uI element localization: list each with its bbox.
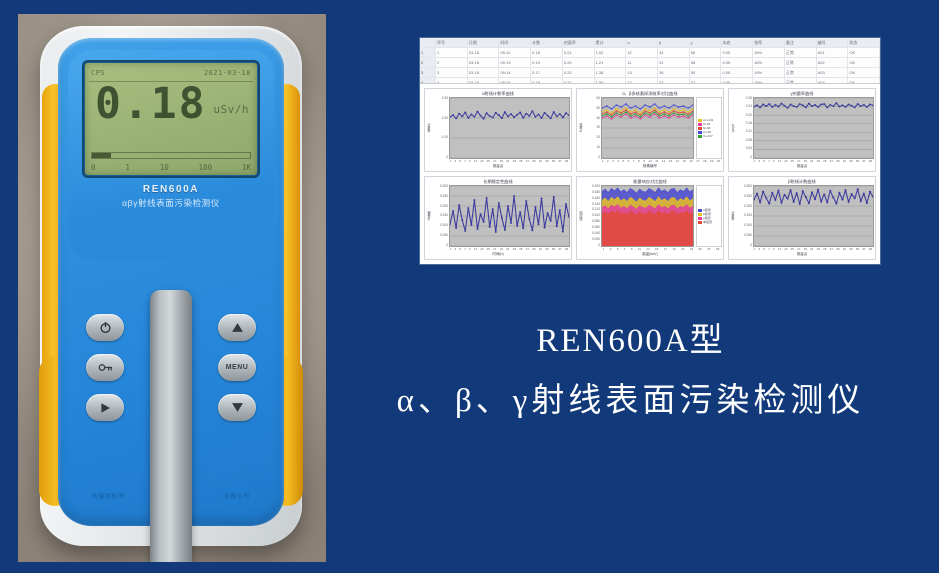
chart-x-tick: 29 [532, 247, 535, 251]
chart-y-tick: 0.300 [440, 185, 448, 188]
spreadsheet-header-cell: 累计 [595, 38, 627, 47]
chart-alpha-count: α射线计数率曲线计数率0.300.200.1001357911131517192… [424, 88, 572, 172]
chart-x-tick: 37 [558, 247, 561, 251]
chart-data-point [516, 114, 518, 116]
spreadsheet-cell: 13 [626, 68, 658, 77]
chart-data-point [544, 112, 546, 114]
chart-data-point [796, 192, 798, 194]
chart-data-point [553, 196, 555, 198]
chart-x-tick: 5 [459, 247, 461, 251]
chart-data-point [820, 104, 822, 106]
chart-data-point [863, 104, 865, 106]
chart-svg [450, 186, 569, 246]
chart-x-tick: 1 [450, 159, 452, 163]
spreadsheet-cell: 0.18 [531, 48, 563, 57]
chart-data-point [663, 115, 665, 117]
chart-data-point [458, 113, 460, 115]
chart-y-axis: 6050403020100 [584, 97, 601, 159]
chart-plot-area [753, 185, 874, 247]
chart-x-tick: 3 [758, 159, 760, 163]
lcd-status-left: CPS [91, 69, 105, 77]
chart-data-point [762, 104, 764, 106]
chart-data-point [668, 113, 670, 115]
chart-y-axis: 0.300.200.100 [432, 97, 449, 159]
chart-x-tick: 33 [545, 159, 548, 163]
chart-data-point [844, 106, 846, 108]
chart-x-tick: 19 [672, 247, 675, 251]
chart-data-point [659, 113, 661, 115]
chart-y-tick: 0.160 [592, 197, 600, 200]
chart-data-point [630, 117, 632, 119]
chart-x-tick: 19 [710, 159, 713, 163]
chart-data-point [455, 118, 457, 120]
chart-y-tick: 0.140 [592, 203, 600, 206]
chart-x-axis-label: 核素编号 [643, 164, 657, 169]
chart-data-point [649, 112, 651, 114]
spreadsheet-cell: 正常 [785, 58, 817, 67]
chart-x-tick: 15 [487, 159, 490, 163]
chart-x-axis-label: 测量点 [493, 164, 504, 169]
spreadsheet-cell: 34 [658, 48, 690, 57]
chart-x-tick: 5 [622, 159, 624, 163]
lcd-bargraph [91, 152, 251, 159]
chart-data-point [635, 111, 637, 113]
chart-data-point [482, 118, 484, 120]
chart-x-tick: 11 [778, 159, 781, 163]
chart-data-point [754, 199, 755, 201]
menu-button[interactable]: MENU [218, 354, 256, 381]
chart-x-tick: 15 [487, 247, 490, 251]
chart-data-point [620, 116, 622, 118]
chart-data-point [616, 108, 618, 110]
play-button[interactable] [86, 394, 124, 421]
power-button[interactable] [86, 314, 124, 341]
spreadsheet-header-cell: γ [690, 38, 722, 47]
chart-data-point [649, 114, 651, 116]
title-block: REN600A型 α、β、γ射线表面污染检测仪 [330, 318, 931, 428]
chart-data-point [644, 108, 646, 110]
chart-data-point [492, 208, 494, 210]
chart-data-point [835, 203, 837, 205]
chart-main: 效率%6050403020100Am-241Cl-36Sr-90Co-60Cs-… [578, 97, 722, 159]
chart-x-axis: 1357911131517192123252729 [578, 247, 722, 251]
chart-x-axis: 13579111315171921232527293133353739 [730, 159, 874, 163]
chart-x-tick: 11 [778, 247, 781, 251]
spreadsheet-header-cell: 备注 [785, 38, 817, 47]
chart-data-point [768, 203, 770, 205]
spreadsheet-cell: 03-18 [468, 58, 500, 67]
chart-data-point [673, 104, 675, 106]
chart-x-tick: 29 [716, 247, 719, 251]
chart-x-tick: 9 [773, 247, 775, 251]
chart-y-tick: 10 [596, 146, 600, 149]
spreadsheet-header-cell: 时间 [499, 38, 531, 47]
chart-data-point [501, 217, 503, 219]
chart-y-tick: 0.120 [592, 208, 600, 211]
spreadsheet-cell: 正常 [785, 48, 817, 57]
chart-x-tick: 3 [454, 247, 456, 251]
chart-data-point [606, 105, 608, 107]
device-model-block: REN600A αβγ射线表面污染检测仪 [58, 184, 284, 209]
chart-cell: β射线计数曲线计数率0.3000.2500.2000.1500.1000.050… [726, 174, 878, 262]
chart-legend-label: Cs-137 [703, 134, 713, 138]
chart-plot-area [449, 97, 570, 159]
chart-y-tick: 0.12 [746, 130, 752, 133]
chart-x-tick: 17 [493, 247, 496, 251]
spreadsheet-header-cell: 状态 [848, 38, 880, 47]
chart-y-tick: 20 [596, 136, 600, 139]
chart-data-point [498, 202, 500, 204]
chart-plot-area [753, 97, 874, 159]
chart-data-point [771, 106, 773, 108]
chart-data-point [639, 116, 641, 118]
chart-data-point [630, 111, 632, 113]
chart-data-point [654, 113, 656, 115]
chart-data-point [644, 114, 646, 116]
software-screenshot-panel: 序号日期时间计数剂量率累计αβγ本底效率备注编号状态1103-1809:120.… [420, 38, 880, 264]
chart-x-tick: 20 [717, 159, 720, 163]
chart-x-tick: 23 [817, 159, 820, 163]
chart-x-tick: 15 [791, 159, 794, 163]
chart-x-axis-label: 时间(h) [492, 252, 503, 257]
chart-x-tick: 25 [699, 247, 702, 251]
chart-x-tick: 17 [664, 247, 667, 251]
chart-data-point [838, 192, 840, 194]
chart-x-tick: 27 [830, 247, 833, 251]
chart-data-point [796, 106, 798, 108]
chart-data-point [768, 103, 770, 105]
chart-x-tick: 13 [784, 159, 787, 163]
chart-x-tick: 21 [810, 247, 813, 251]
lcd-screen: CPS 2021-03-18 0.18 uSv/h 0 1 10 100 1K [85, 63, 257, 175]
chart-data-point [802, 190, 804, 192]
down-button[interactable] [218, 394, 256, 421]
chart-data-point [786, 198, 788, 200]
spreadsheet-cell: 19% [753, 68, 785, 77]
chart-data-point [525, 200, 527, 202]
chart-data-point [811, 192, 813, 194]
chart-data-point [777, 106, 779, 108]
chart-data-point [452, 114, 454, 116]
spreadsheet-cell: 09:14 [499, 68, 531, 77]
chart-x-tick: 18 [703, 159, 706, 163]
chart-data-point [540, 117, 542, 119]
triangle-right-icon [99, 402, 111, 414]
chart-y-tick: 0.180 [592, 191, 600, 194]
chart-x-tick: 39 [565, 247, 568, 251]
chart-x-tick: 3 [454, 159, 456, 163]
spreadsheet-cell: 03-18 [468, 48, 500, 57]
chart-data-point [525, 113, 527, 115]
chart-data-point [823, 194, 825, 196]
chart-x-axis-label: 能量(keV) [642, 252, 657, 257]
chart-data-point [829, 104, 831, 106]
chart-data-point [620, 112, 622, 114]
chart-data-point [467, 117, 469, 119]
chart-data-point [537, 224, 539, 226]
chart-x-tick: 3 [758, 247, 760, 251]
chart-data-point [659, 115, 661, 117]
chart-y-tick: 0.150 [440, 214, 448, 217]
chart-legend-item: 本底值 [698, 220, 720, 224]
chart-x-tick: 21 [506, 247, 509, 251]
chart-x-tick: 23 [513, 159, 516, 163]
chart-x-tick: 15 [655, 247, 658, 251]
chart-data-point [823, 103, 825, 105]
chart-data-point [765, 197, 767, 199]
chart-y-tick: 0.08 [746, 139, 752, 142]
search-button[interactable] [86, 354, 124, 381]
spreadsheet-cell: 11 [626, 58, 658, 67]
chart-y-tick: 0.040 [592, 232, 600, 235]
spreadsheet-header-cell: β [658, 38, 690, 47]
chart-data-point [799, 203, 801, 205]
chart-data-point [531, 230, 533, 232]
chart-x-tick: 17 [493, 159, 496, 163]
chart-x-tick: 39 [869, 247, 872, 251]
chart-data-point [851, 105, 853, 107]
chart-beta-rate: β射线计数曲线计数率0.3000.2500.2000.1500.1000.050… [728, 176, 876, 260]
chart-data-point [673, 110, 675, 112]
chart-x-tick: 33 [545, 247, 548, 251]
chart-x-tick: 31 [843, 247, 846, 251]
spreadsheet-cell: OK [848, 68, 880, 77]
chart-x-tick: 3 [612, 159, 614, 163]
chart-data-point [678, 114, 680, 116]
chart-data-point [673, 114, 675, 116]
chart-data-point [668, 107, 670, 109]
chart-x-tick: 21 [506, 159, 509, 163]
chart-data-point [625, 113, 627, 115]
key-icon [98, 362, 113, 373]
chart-y-tick: 0.200 [592, 185, 600, 188]
chart-data-point [461, 219, 463, 221]
up-button[interactable] [218, 314, 256, 341]
chart-x-tick: 15 [791, 247, 794, 251]
chart-svg [450, 98, 569, 158]
chart-data-point [620, 106, 622, 108]
chart-x-tick: 35 [552, 159, 555, 163]
spreadsheet-table: 序号日期时间计数剂量率累计αβγ本底效率备注编号状态1103-1809:120.… [420, 38, 880, 84]
chart-data-point [534, 206, 536, 208]
chart-data-point [673, 108, 675, 110]
triangle-down-icon [231, 402, 244, 413]
chart-data-point [832, 197, 834, 199]
device-bottom-mark-left: 核辐射检测 [92, 492, 125, 500]
chart-data-point [765, 105, 767, 107]
chart-data-point [452, 210, 454, 212]
chart-legend-swatch [698, 221, 702, 224]
spreadsheet-cell: 0.20 [563, 58, 595, 67]
chart-data-point [857, 103, 859, 105]
spreadsheet-cell: A01 [817, 48, 849, 57]
chart-x-tick: 31 [843, 159, 846, 163]
chart-x-tick: 35 [552, 247, 555, 251]
spreadsheet-row-index: 3 [420, 68, 436, 77]
chart-x-tick: 9 [469, 159, 471, 163]
chart-x-tick: 37 [862, 247, 865, 251]
chart-y-axis: 0.2000.1800.1600.1400.1200.1000.0800.060… [584, 185, 601, 247]
chart-data-point [783, 105, 785, 107]
chart-data-point [498, 114, 500, 116]
chart-data-point [606, 109, 608, 111]
spreadsheet-cell: 1.02 [595, 48, 627, 57]
chart-data-point [644, 112, 646, 114]
spreadsheet-cell: 0.17 [531, 68, 563, 77]
chart-data-point [504, 111, 506, 113]
chart-data-point [519, 211, 521, 213]
chart-data-point [635, 115, 637, 117]
lcd-reading-unit: uSv/h [213, 103, 249, 116]
chart-data-point [562, 231, 564, 233]
chart-data-point [562, 117, 564, 119]
chart-y-axis: 0.280.240.200.160.120.080.040 [736, 97, 753, 159]
chart-main: 响应值0.2000.1800.1600.1400.1200.1000.0800.… [578, 185, 722, 247]
chart-data-point [639, 108, 641, 110]
chart-x-tick: 23 [513, 247, 516, 251]
spreadsheet-cell: 0.21 [563, 48, 595, 57]
chart-data-point [786, 107, 788, 109]
chart-data-point [869, 104, 871, 106]
spreadsheet-cell: 0.05 [721, 68, 753, 77]
chart-y-tick: 0.20 [746, 114, 752, 117]
chart-x-tick: 11 [655, 159, 658, 163]
chart-y-tick: 0.30 [442, 97, 448, 100]
chart-main: μSv/h0.280.240.200.160.120.080.040 [730, 97, 874, 159]
chart-data-point [550, 220, 552, 222]
chart-data-point [844, 189, 846, 191]
chart-x-tick: 27 [830, 159, 833, 163]
chart-data-point [654, 111, 656, 113]
chart-data-point [820, 201, 822, 203]
chart-main: 偏差%0.3000.2500.2000.1500.1000.0500 [426, 185, 570, 247]
chart-x-tick: 9 [469, 247, 471, 251]
lcd-scale-tick: 10 [160, 163, 169, 172]
chart-data-point [841, 104, 843, 106]
lcd-scale-tick: 1 [125, 163, 130, 172]
chart-x-tick: 13 [646, 247, 649, 251]
chart-data-point [851, 193, 853, 195]
chart-data-point [620, 114, 622, 116]
chart-x-tick: 4 [617, 159, 619, 163]
chart-data-point [663, 113, 665, 115]
chart-data-point [635, 109, 637, 111]
spreadsheet-cell: 2 [436, 58, 468, 67]
chart-data-point [683, 109, 685, 111]
chart-data-point [486, 112, 488, 114]
chart-x-tick: 10 [648, 159, 651, 163]
page-subtitle: α、β、γ射线表面污染检测仪 [330, 374, 931, 428]
chart-data-point [771, 192, 773, 194]
chart-data-point [489, 115, 491, 117]
chart-data-point [611, 108, 613, 110]
chart-data-point [854, 198, 856, 200]
chart-svg [754, 98, 873, 158]
chart-x-tick: 16 [689, 159, 692, 163]
chart-x-tick: 27 [707, 247, 710, 251]
chart-data-point [756, 104, 758, 106]
chart-legend: α探测β探测γ探测本底值 [696, 185, 722, 247]
spreadsheet-cell: 1 [436, 48, 468, 57]
chart-data-point [507, 116, 509, 118]
chart-data-point [811, 105, 813, 107]
chart-data-point [793, 201, 795, 203]
chart-data-point [461, 116, 463, 118]
chart-data-point [544, 227, 546, 229]
chart-data-point [565, 112, 567, 114]
chart-data-point [668, 117, 670, 119]
chart-y-tick: 0.100 [440, 224, 448, 227]
chart-data-point [625, 107, 627, 109]
chart-x-tick: 5 [617, 247, 619, 251]
chart-data-point [829, 190, 831, 192]
chart-data-point [663, 105, 665, 107]
chart-y-tick: 0.100 [592, 214, 600, 217]
chart-data-point [780, 202, 782, 204]
chart-data-point [556, 116, 558, 118]
chart-data-point [486, 197, 488, 199]
chart-data-point [495, 112, 497, 114]
lcd-scale: 0 1 10 100 1K [91, 161, 251, 173]
chart-y-tick: 50 [596, 107, 600, 110]
spreadsheet-row: 3303-1809:140.170.221.381336550.0519%正常A… [420, 68, 880, 78]
chart-x-tick: 7 [624, 247, 626, 251]
chart-data-point [464, 230, 466, 232]
chart-data-point [860, 105, 862, 107]
chart-data-point [547, 115, 549, 117]
chart-data-point [814, 104, 816, 106]
spreadsheet-cell: 36 [658, 68, 690, 77]
chart-cell: α射线计数率曲线计数率0.300.200.1001357911131517192… [422, 86, 574, 174]
chart-gamma-rate: γ剂量率曲线μSv/h0.280.240.200.160.120.080.040… [728, 88, 876, 172]
chart-svg [602, 186, 693, 246]
chart-data-point [663, 109, 665, 111]
spreadsheet-cell: 31 [658, 58, 690, 67]
chart-data-point [866, 202, 868, 204]
chart-x-tick: 25 [519, 247, 522, 251]
chart-y-tick: 0.080 [592, 220, 600, 223]
chart-data-point [476, 228, 478, 230]
chart-legend: Am-241Cl-36Sr-90Co-60Cs-137 [696, 97, 722, 159]
chart-x-tick: 35 [856, 159, 859, 163]
chart-data-point [847, 201, 849, 203]
chart-data-point [606, 115, 608, 117]
chart-data-point [678, 112, 680, 114]
chart-y-tick: 30 [596, 126, 600, 129]
spreadsheet-cell: 58 [690, 58, 722, 67]
spreadsheet-header-cell: 效率 [753, 38, 785, 47]
chart-data-point [635, 113, 637, 115]
chart-data-point [528, 115, 530, 117]
chart-data-point [869, 191, 871, 193]
chart-data-point [790, 104, 792, 106]
spreadsheet-cell: 1.21 [595, 58, 627, 67]
chart-data-point [537, 114, 539, 116]
chart-data-point [814, 198, 816, 200]
chart-data-point [683, 113, 685, 115]
chart-x-tick: 7 [768, 247, 770, 251]
chart-y-tick: 0.060 [592, 226, 600, 229]
spreadsheet-cell: A02 [817, 58, 849, 67]
chart-data-point [473, 199, 475, 201]
chart-data-point [616, 114, 618, 116]
spreadsheet-header-cell: 编号 [817, 38, 849, 47]
chart-data-point [513, 195, 515, 197]
chart-data-point [510, 222, 512, 224]
chart-data-point [659, 107, 661, 109]
chart-x-tick: 39 [869, 159, 872, 163]
chart-data-point [639, 118, 641, 120]
